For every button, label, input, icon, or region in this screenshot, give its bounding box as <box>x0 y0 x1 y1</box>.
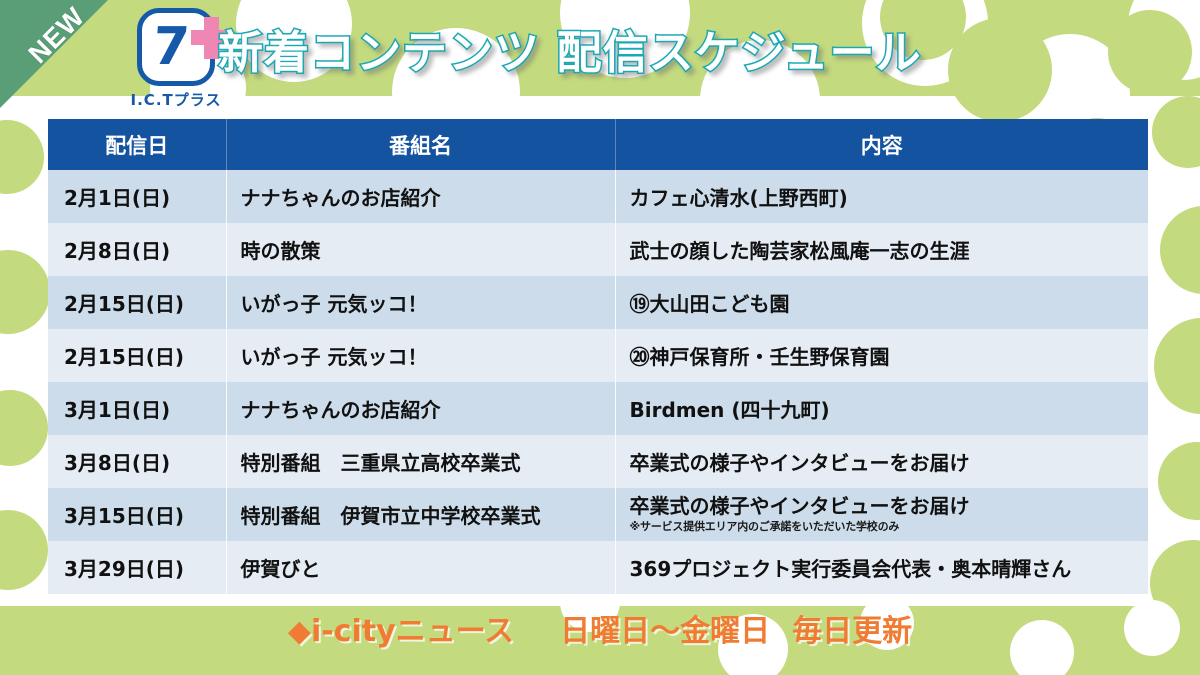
cell-date: 3月15日(日) <box>48 488 226 541</box>
column-header-program: 番組名 <box>226 119 615 170</box>
cell-content: カフェ心清水(上野西町) <box>615 170 1148 223</box>
column-header-date: 配信日 <box>48 119 226 170</box>
schedule-table-wrapper: 配信日 番組名 内容 2月1日(日)ナナちゃんのお店紹介カフェ心清水(上野西町)… <box>48 119 1148 594</box>
table-row: 2月15日(日)いがっ子 元気ッコ！⑳神戸保育所・壬生野保育園 <box>48 329 1148 382</box>
cell-content: Birdmen (四十九町) <box>615 382 1148 435</box>
footer-brand: i-cityニュース <box>311 614 514 649</box>
table-row: 3月1日(日)ナナちゃんのお店紹介Birdmen (四十九町) <box>48 382 1148 435</box>
table-row: 3月8日(日)特別番組 三重県立高校卒業式卒業式の様子やインタビューをお届け <box>48 435 1148 488</box>
ict-plus-logo: 7 I.C.Tプラス <box>122 8 230 110</box>
cell-program: 時の散策 <box>226 223 615 276</box>
column-header-content: 内容 <box>615 119 1148 170</box>
table-row: 3月15日(日)特別番組 伊賀市立中学校卒業式卒業式の様子やインタビューをお届け… <box>48 488 1148 541</box>
cell-content: 卒業式の様子やインタビューをお届け <box>615 435 1148 488</box>
cell-program: いがっ子 元気ッコ！ <box>226 329 615 382</box>
cell-date: 2月15日(日) <box>48 329 226 382</box>
footer-days: 日曜日〜金曜日 <box>560 614 770 649</box>
logo-mark-icon: 7 <box>137 8 215 86</box>
footer-banner: ◆i-cityニュース日曜日〜金曜日毎日更新 <box>0 606 1200 650</box>
cell-content-text: 卒業式の様子やインタビューをお届け <box>630 495 1149 519</box>
cell-date: 3月8日(日) <box>48 435 226 488</box>
cell-program: 特別番組 三重県立高校卒業式 <box>226 435 615 488</box>
cell-content: 卒業式の様子やインタビューをお届け※サービス提供エリア内のご承諾をいただいた学校… <box>615 488 1148 541</box>
cell-program: 特別番組 伊賀市立中学校卒業式 <box>226 488 615 541</box>
logo-wordmark: I.C.Tプラス <box>122 89 230 110</box>
cell-program: 伊賀びと <box>226 541 615 594</box>
table-row: 2月15日(日)いがっ子 元気ッコ！⑲大山田こども園 <box>48 276 1148 329</box>
table-row: 2月1日(日)ナナちゃんのお店紹介カフェ心清水(上野西町) <box>48 170 1148 223</box>
cell-content: ⑳神戸保育所・壬生野保育園 <box>615 329 1148 382</box>
logo-seven-glyph: 7 <box>151 21 191 73</box>
cell-content-note: ※サービス提供エリア内のご承諾をいただいた学校のみ <box>630 521 1149 534</box>
cell-content: 武士の顔した陶芸家松風庵一志の生涯 <box>615 223 1148 276</box>
poster-canvas: NEW 7 I.C.Tプラス 新着コンテンツ 配信スケジュール 配信日 番組名 … <box>0 0 1200 675</box>
cell-date: 2月8日(日) <box>48 223 226 276</box>
logo-plus-icon-vertical <box>204 17 219 59</box>
cell-program: ナナちゃんのお店紹介 <box>226 170 615 223</box>
table-header-row: 配信日 番組名 内容 <box>48 119 1148 170</box>
cell-program: ナナちゃんのお店紹介 <box>226 382 615 435</box>
cell-content: ⑲大山田こども園 <box>615 276 1148 329</box>
schedule-table: 配信日 番組名 内容 2月1日(日)ナナちゃんのお店紹介カフェ心清水(上野西町)… <box>48 119 1148 594</box>
cell-program: いがっ子 元気ッコ！ <box>226 276 615 329</box>
diamond-icon: ◆ <box>288 614 311 649</box>
cell-date: 3月29日(日) <box>48 541 226 594</box>
cell-content: 369プロジェクト実行委員会代表・奥本晴輝さん <box>615 541 1148 594</box>
cell-date: 2月15日(日) <box>48 276 226 329</box>
schedule-table-body: 2月1日(日)ナナちゃんのお店紹介カフェ心清水(上野西町)2月8日(日)時の散策… <box>48 170 1148 594</box>
table-row: 3月29日(日)伊賀びと369プロジェクト実行委員会代表・奥本晴輝さん <box>48 541 1148 594</box>
page-title: 新着コンテンツ 配信スケジュール <box>218 16 922 81</box>
footer-update: 毎日更新 <box>792 614 912 649</box>
cell-date: 3月1日(日) <box>48 382 226 435</box>
table-row: 2月8日(日)時の散策武士の顔した陶芸家松風庵一志の生涯 <box>48 223 1148 276</box>
cell-date: 2月1日(日) <box>48 170 226 223</box>
